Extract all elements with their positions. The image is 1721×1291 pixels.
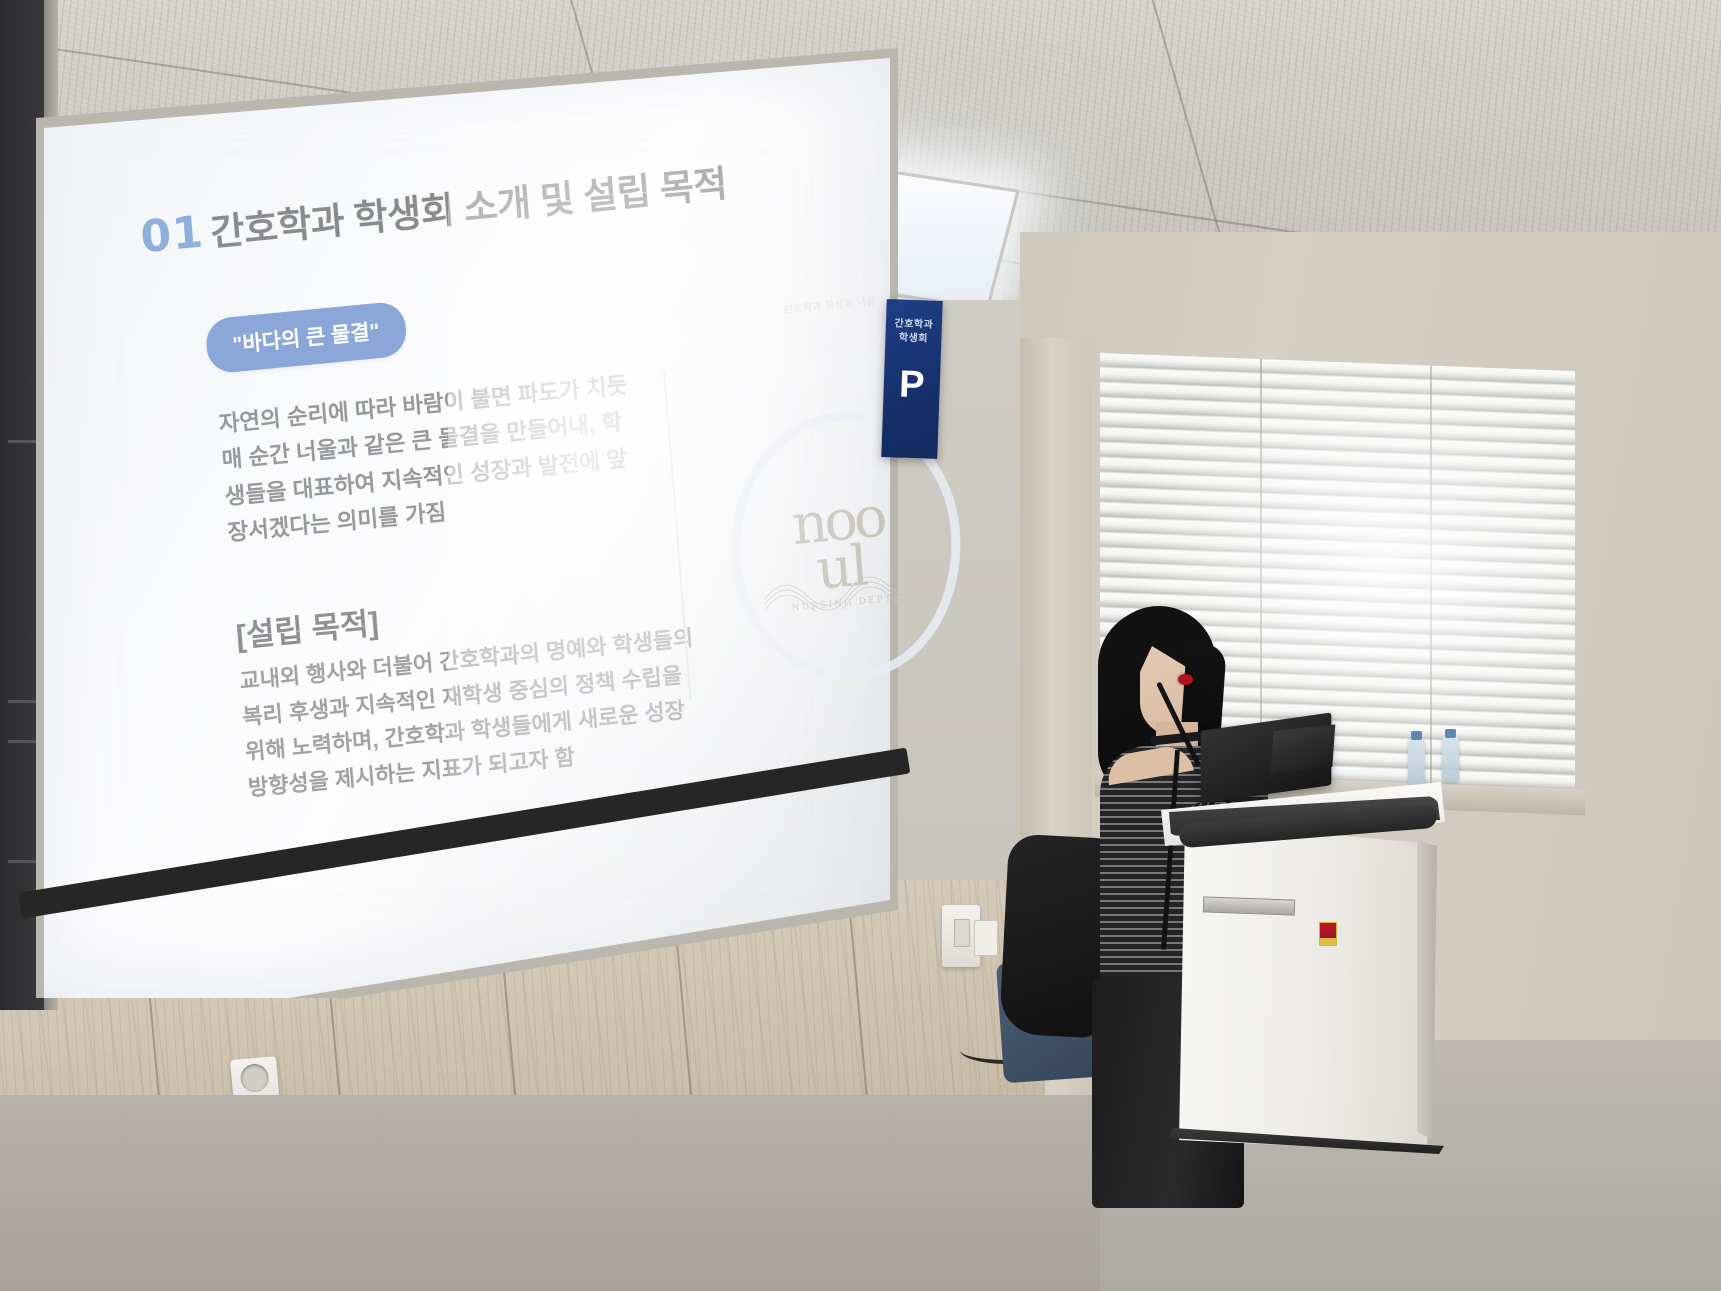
bottle-cap: [1411, 731, 1422, 740]
monitor-secondary[interactable]: [1271, 724, 1336, 773]
projector-screen: 01 간호학과 학생회 소개 및 설립 목적 "바다의 큰 물결" 자연의 순리…: [18, 48, 908, 1008]
lectern-keyboard-tray[interactable]: [1203, 896, 1296, 915]
slide-section-heading: [설립 목적]: [234, 597, 380, 656]
lectern-body: [1179, 822, 1434, 1152]
slide-pill-badge: "바다의 큰 물결": [204, 301, 407, 375]
slide-title: 간호학과 학생회 소개 및 설립 목적: [209, 150, 830, 257]
slide-content: 01 간호학과 학생회 소개 및 설립 목적 "바다의 큰 물결" 자연의 순리…: [78, 68, 929, 941]
slide-header-note: 간호학과 학생회 너울: [783, 292, 877, 316]
outlet-socket: [239, 1063, 269, 1093]
wall-banner: 간호학과 학생회 P: [881, 299, 942, 459]
slide-number: 01: [139, 206, 206, 263]
floor: [0, 1095, 1200, 1291]
wall-control-panel[interactable]: [974, 920, 998, 956]
logo-wordmark: noo ul NURSING DEPT.: [761, 492, 919, 616]
red-power-switch[interactable]: [1319, 922, 1337, 946]
lectern-side-edge: [1417, 840, 1437, 1140]
switch-indicator: [1320, 938, 1336, 945]
banner-text: 간호학과 학생회: [889, 317, 938, 346]
slide-paragraph-top: 자연의 순리에 따라 바람이 불면 파도가 치듯 매 순간 너울과 같은 큰 물…: [218, 367, 648, 553]
bottle-cap: [1445, 729, 1456, 738]
lecture-room-photo: 01 간호학과 학생회 소개 및 설립 목적 "바다의 큰 물결" 자연의 순리…: [0, 0, 1721, 1291]
banner-letter: P: [889, 365, 934, 405]
microphone-head-icon: [1178, 674, 1193, 685]
switch-button[interactable]: [954, 919, 970, 947]
lectern: [1155, 770, 1455, 1150]
